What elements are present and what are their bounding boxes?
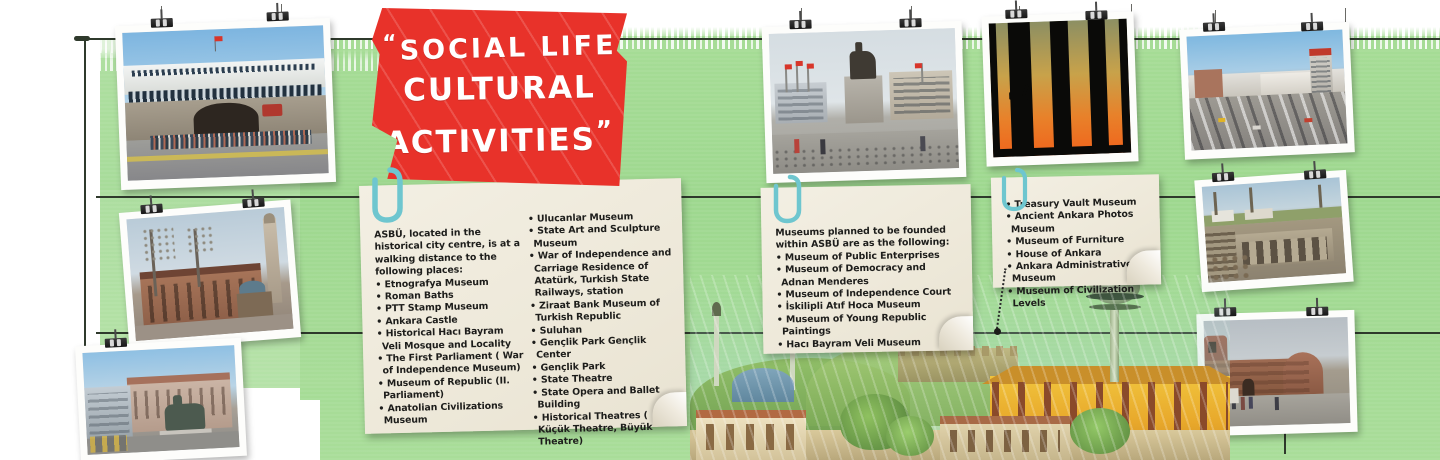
place-item: Ziraat Bank Museum of Turkish Republic [530,297,677,325]
photo-ulus-square[interactable] [762,21,967,183]
place-item: Anatolian Civilizations Museum [378,400,527,428]
note-places-intro: ASBÜ, located in the historical city cen… [374,226,523,279]
binder-clip-icon [151,14,173,28]
planned-item: Hacı Bayram Veli Museum [777,336,959,352]
title-banner: “Social Life Cultural Activities” [372,8,627,186]
title-line-1: “Social Life [372,27,628,66]
binder-clip-icon [266,8,288,22]
binder-clip-icon [899,14,921,28]
photo-image-ottoman [82,345,239,455]
note-planned-content: Museums planned to be founded within ASB… [775,224,959,351]
paperclip-icon [772,172,802,226]
clip-thread [1345,8,1346,22]
photo-sunset-columns[interactable] [981,11,1138,166]
note-nearby-places[interactable]: ASBÜ, located in the historical city cen… [359,178,687,434]
title-line-3: Activities” [372,118,628,160]
poster-canvas: “Social Life Cultural Activities” ASBÜ, … [0,0,1440,460]
title-line-2: Cultural [372,72,628,107]
place-item: Historical Hacı Bayram Veli Mosque and L… [377,325,526,353]
hanging-post-cap [74,36,90,41]
binder-clip-icon [1005,5,1027,19]
treasury-item: Museum of Civilization Levels [1007,283,1153,311]
binder-clip-icon [140,200,163,215]
place-item: Museum of Republic (II. Parliament) [378,375,527,403]
paperclip-icon [370,164,404,226]
binder-clip-icon [104,334,127,348]
place-item: The First Parliament ( War of Independen… [377,350,526,378]
place-item: War of Independence and Carriage Residen… [529,247,676,300]
place-item: Gençlik Park Gençlik Center [531,334,678,362]
photo-asbu-building[interactable] [115,18,336,190]
note-planned-intro: Museums planned to be founded within ASB… [775,224,957,252]
photo-ottoman-street[interactable] [75,338,247,460]
dotted-connector-node [994,328,1001,335]
binder-clip-icon [1304,165,1327,180]
photo-roman-baths[interactable] [1194,170,1353,292]
planned-item: Museum of Young Republic Paintings [777,311,959,339]
place-item: State Art and Sculpture Museum [528,223,675,251]
quote-close: ” [596,115,615,144]
photo-image-baths [1202,177,1346,282]
binder-clip-icon [1212,168,1235,183]
quote-open: “ [382,31,400,56]
binder-clip-icon [1306,303,1328,317]
photo-image-mosque [126,207,293,341]
photo-image-asbu [122,25,329,181]
photo-image-sunset [989,19,1132,158]
binder-clip-icon [1301,17,1324,31]
photo-image-ulus [769,28,959,174]
binder-clip-icon [1203,18,1226,32]
paperclip-icon [1000,166,1028,214]
planned-item: Museum of Democracy and Adnan Menderes [776,262,958,290]
photo-haci-bayram-mosque[interactable] [119,199,301,350]
photo-city-aerial[interactable] [1179,22,1355,160]
binder-clip-icon [789,16,811,30]
binder-clip-icon [242,194,265,209]
note-places-column-left: ASBÜ, located in the historical city cen… [374,226,527,428]
binder-clip-icon [1085,6,1107,20]
photo-image-aerial [1186,30,1347,151]
